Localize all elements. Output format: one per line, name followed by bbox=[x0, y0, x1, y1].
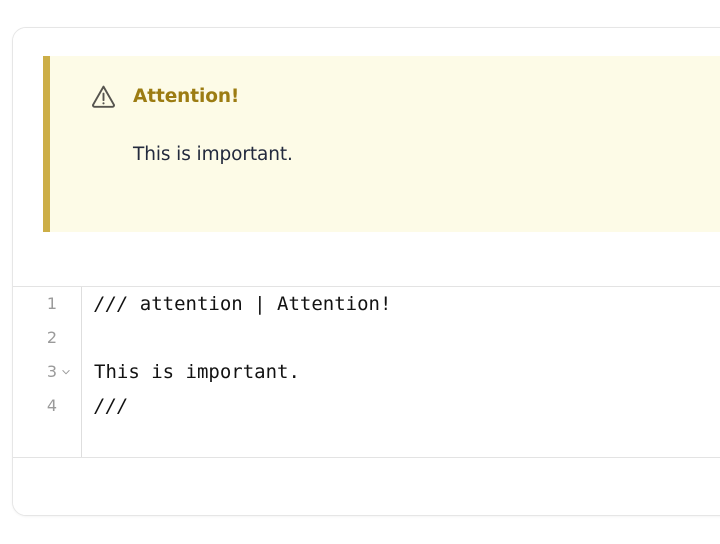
line-number: 2 bbox=[47, 330, 57, 346]
line-number: 3 bbox=[47, 364, 57, 380]
admonition-title: Attention! bbox=[133, 86, 239, 107]
line-number: 4 bbox=[47, 398, 57, 414]
code-line[interactable] bbox=[94, 321, 720, 355]
code-line[interactable]: This is important. bbox=[94, 355, 720, 389]
code-editor-pane[interactable]: 1 2 3 4 /// atte bbox=[13, 287, 720, 457]
admonition-body-text: This is important. bbox=[133, 144, 293, 165]
gutter-row: 4 bbox=[13, 389, 81, 423]
line-number: 1 bbox=[47, 296, 57, 312]
code-line[interactable]: /// bbox=[94, 389, 720, 423]
fold-slot[interactable] bbox=[57, 367, 75, 377]
chevron-down-icon[interactable] bbox=[61, 367, 71, 377]
code-content-area[interactable]: /// attention | Attention! This is impor… bbox=[94, 287, 720, 457]
code-fence-token: /// bbox=[94, 395, 128, 417]
card-footer-area bbox=[13, 458, 720, 515]
code-fence-token: /// bbox=[94, 293, 128, 315]
line-number-gutter: 1 2 3 4 bbox=[13, 287, 82, 457]
rendered-preview-pane: Attention! This is important. bbox=[13, 28, 720, 282]
gutter-row: 3 bbox=[13, 355, 81, 389]
admonition-attention-block: Attention! This is important. bbox=[43, 56, 720, 232]
code-text-token: attention | Attention! bbox=[128, 293, 391, 315]
markdown-preview-card: Attention! This is important. 1 2 3 bbox=[12, 27, 720, 516]
code-line[interactable]: /// attention | Attention! bbox=[94, 287, 720, 321]
admonition-header: Attention! bbox=[90, 82, 239, 110]
gutter-row: 1 bbox=[13, 287, 81, 321]
gutter-row: 2 bbox=[13, 321, 81, 355]
code-text-token: This is important. bbox=[94, 361, 300, 383]
warning-triangle-icon bbox=[90, 83, 117, 110]
